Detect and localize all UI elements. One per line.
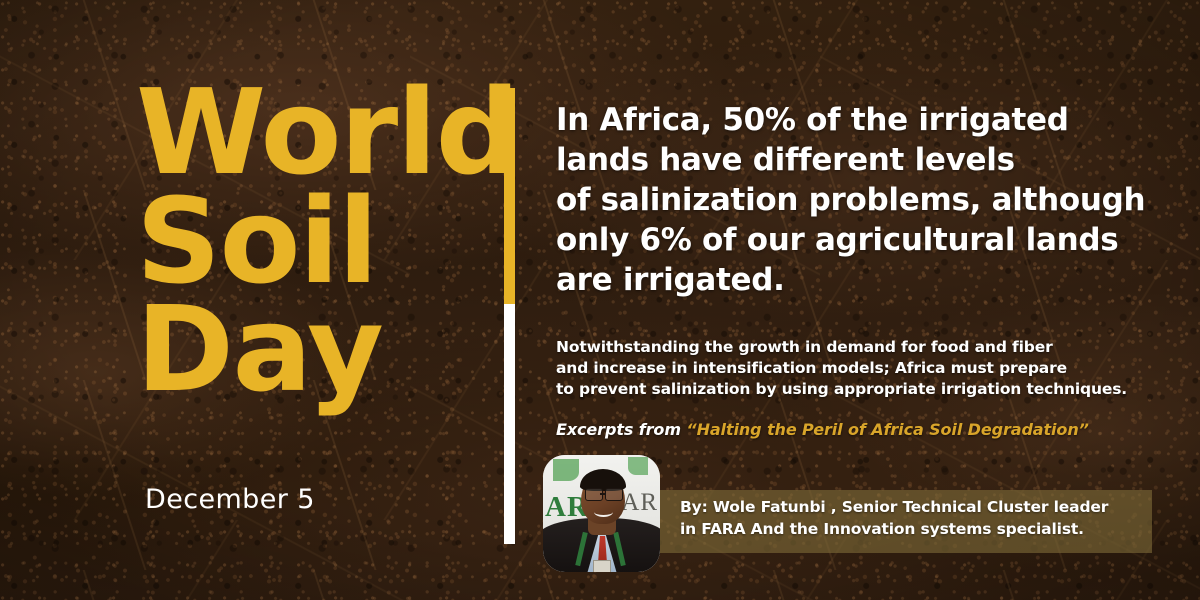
excerpt-lead-label: Excerpts from [556,420,686,439]
headline-line-1: In Africa, 50% of the irrigated [556,100,1156,140]
attribution-line-2: in FARA And the Innovation systems speci… [680,518,1150,540]
vertical-divider [504,88,515,544]
excerpt-work-title: “Halting the Peril of Africa Soil Degrad… [686,420,1088,439]
divider-segment-yellow [504,88,515,304]
headline-line-4: only 6% of our agricultural lands [556,220,1156,260]
headline-line-5: are irrigated. [556,260,1156,300]
attribution-line-1: By: Wole Fatunbi , Senior Technical Clus… [680,496,1150,518]
portrait-glasses-bridge [600,493,606,495]
world-soil-day-poster: World Soil Day December 5 In Africa, 50%… [0,0,1200,600]
excerpt-source: Excerpts from “Halting the Peril of Afri… [556,420,1089,439]
headline: In Africa, 50% of the irrigated lands ha… [556,100,1156,300]
body-line-2: and increase in intensification models; … [556,358,1136,379]
portrait-glasses-right-lens [605,488,623,501]
backdrop-green-shape-left [553,459,579,481]
page-title: World Soil Day [136,78,496,404]
headline-line-3: of salinization problems, although [556,180,1156,220]
author-portrait: AR FAR [543,455,660,572]
title-line-day: Day [136,295,496,404]
body-line-1: Notwithstanding the growth in demand for… [556,337,1136,358]
headline-line-2: lands have different levels [556,140,1156,180]
attribution-text: By: Wole Fatunbi , Senior Technical Clus… [680,496,1150,540]
portrait-name-badge [593,560,611,572]
portrait-smile [594,507,613,517]
title-line-world: World [136,78,496,187]
backdrop-green-shape-right [628,457,648,475]
body-line-3: to prevent salinization by using appropr… [556,379,1136,400]
observance-date: December 5 [145,484,315,515]
title-line-soil: Soil [136,187,496,296]
body-paragraph: Notwithstanding the growth in demand for… [556,337,1136,400]
divider-segment-white [504,304,515,544]
